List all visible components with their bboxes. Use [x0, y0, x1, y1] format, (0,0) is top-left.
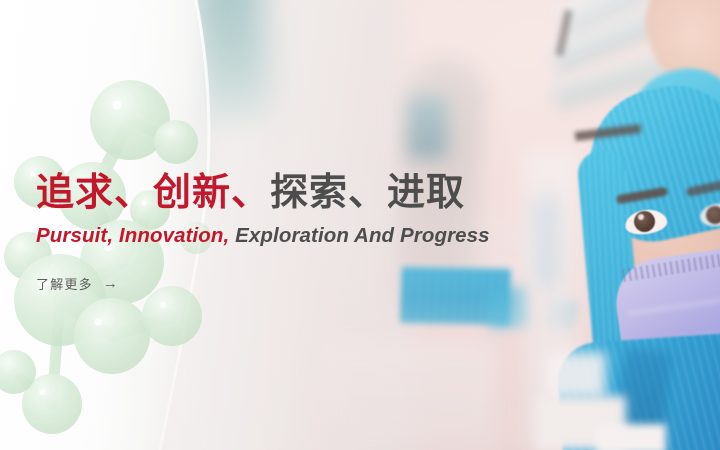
subheadline-gray-segment: Exploration And Progress — [229, 224, 489, 247]
arrow-right-icon: → — [103, 276, 119, 291]
banner-subheadline: Pursuit, Innovation, Exploration And Pro… — [36, 224, 596, 249]
technician-iris-right — [706, 206, 720, 224]
lab-counter-2 — [596, 424, 666, 450]
technician-eye-glint — [638, 214, 644, 220]
lab-counter-3 — [546, 352, 606, 398]
subheadline-red-segment: Pursuit, Innovation, — [36, 224, 229, 247]
hero-banner: 追求、创新、探索、进取 Pursuit, Innovation, Explora… — [0, 0, 720, 450]
technician-iris-left — [634, 211, 655, 232]
learn-more-label: 了解更多 — [36, 274, 93, 293]
banner-headline: 追求、创新、探索、进取 — [36, 172, 596, 215]
headline-red-segment: 追求、创新、 — [36, 172, 270, 214]
headline-gray-segment: 探索、进取 — [270, 172, 465, 214]
banner-content: 追求、创新、探索、进取 Pursuit, Innovation, Explora… — [36, 172, 596, 294]
learn-more-link[interactable]: 了解更多 → — [36, 274, 119, 293]
